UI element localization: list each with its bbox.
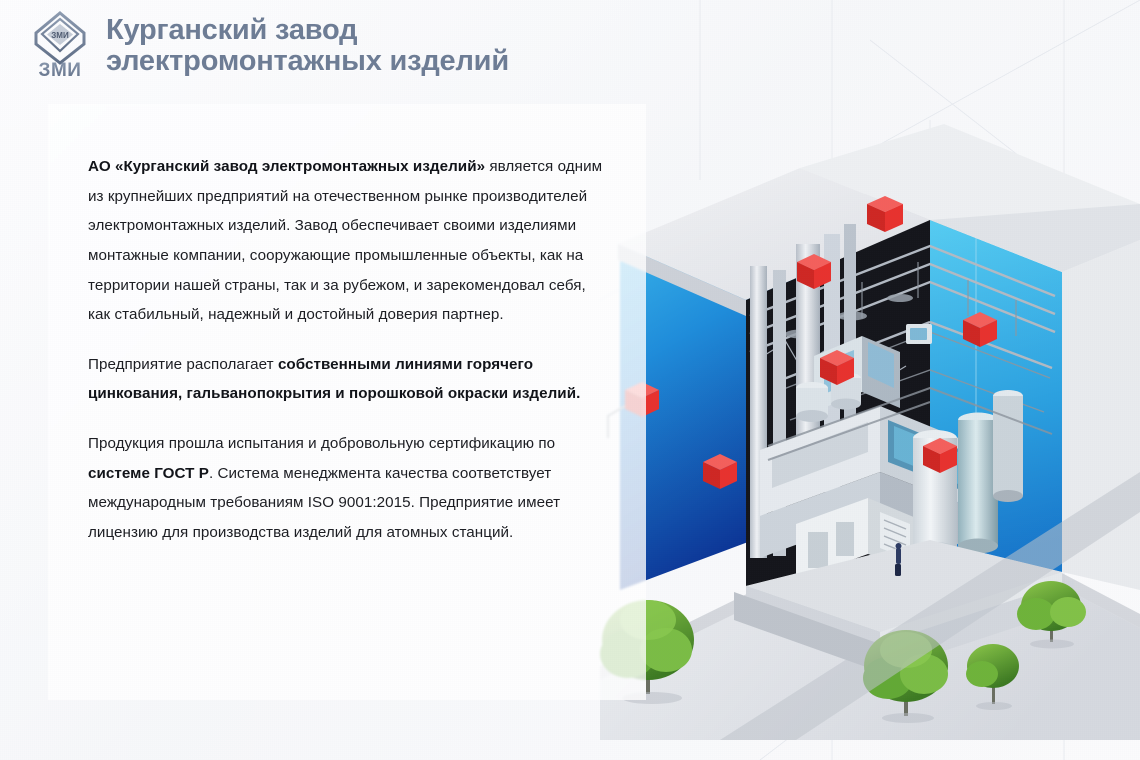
about-paragraph-intro: АО «Курганский завод электромонтажных из… [88,152,608,330]
logo-wordmark: ЗМИ [39,60,82,77]
about-paragraph-intro-segment-1: является одним из крупнейших предприятий… [88,158,602,323]
about-text-card: АО «Курганский завод электромонтажных из… [48,104,646,700]
isometric-factory-illustration [600,120,1140,740]
about-paragraph-certification-segment-1: системе ГОСТ Р [88,465,209,482]
page-title: Курганский завод электромонтажных издели… [106,15,509,77]
about-paragraph-capabilities: Предприятие располагает собственными лин… [88,350,608,409]
page-header: ЗМИ ЗМИ Курганский завод электромонтажны… [0,0,1140,92]
about-paragraph-certification-segment-0: Продукция прошла испытания и добровольну… [88,435,555,452]
title-line-2: электромонтажных изделий [106,46,509,77]
title-line-1: Курганский завод [106,14,357,46]
crane-hoist [906,324,932,344]
slide-canvas: ЗМИ ЗМИ Курганский завод электромонтажны… [0,0,1140,760]
svg-text:ЗМИ: ЗМИ [51,31,69,40]
about-paragraph-list: АО «Курганский завод электромонтажных из… [88,152,608,548]
about-paragraph-intro-segment-0: АО «Курганский завод электромонтажных из… [88,158,485,175]
zmi-diamond-logo-icon: ЗМИ ЗМИ [34,11,86,77]
about-paragraph-capabilities-segment-0: Предприятие располагает [88,356,278,373]
about-paragraph-certification: Продукция прошла испытания и добровольну… [88,429,608,548]
